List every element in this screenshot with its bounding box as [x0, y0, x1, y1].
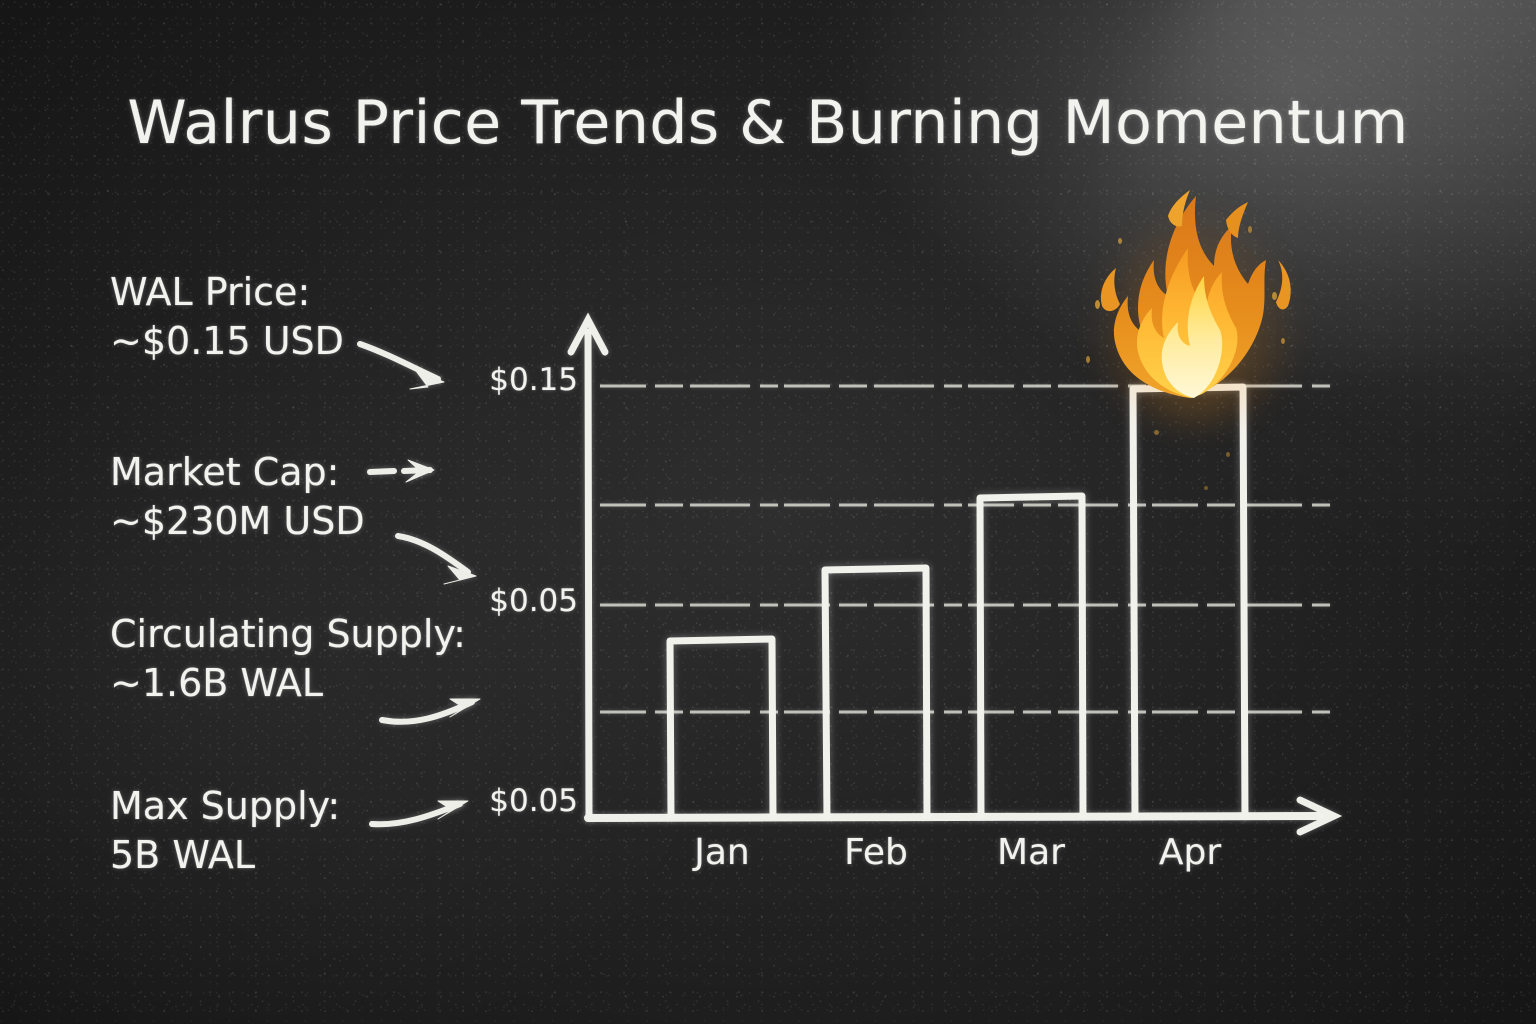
bar-apr — [1133, 387, 1245, 818]
ember — [1154, 430, 1159, 435]
arrow-to-mcap-value-icon — [396, 530, 506, 590]
stat-max-supply: Max Supply: 5B WAL — [110, 782, 340, 881]
chalkboard: Walrus Price Trends & Burning Momentum W… — [0, 0, 1536, 1024]
y-tick-label-0: $0.15 — [448, 362, 578, 398]
ember — [1248, 226, 1252, 233]
y-tick-label-1: $0.05 — [448, 583, 578, 619]
stat-circulating-supply-label: Circulating Supply: — [110, 610, 466, 659]
stat-circulating-supply-value: ~1.6B WAL — [110, 659, 466, 708]
ember — [1204, 486, 1208, 490]
stat-wal-price-label: WAL Price: — [110, 268, 344, 317]
bar-jan — [670, 639, 773, 818]
x-tick-label-jan: Jan — [642, 832, 802, 873]
bar-feb — [825, 568, 927, 818]
ember — [1118, 238, 1122, 244]
stat-market-cap: Market Cap: ~$230M USD — [110, 448, 365, 547]
x-axis — [588, 800, 1334, 832]
stat-wal-price-value: ~$0.15 USD — [110, 317, 344, 366]
ember — [1272, 292, 1277, 300]
stat-circulating-supply: Circulating Supply: ~1.6B WAL — [110, 610, 466, 709]
x-tick-label-apr: Apr — [1110, 832, 1270, 873]
stat-max-supply-label: Max Supply: — [110, 782, 340, 831]
stat-market-cap-value: ~$230M USD — [110, 497, 365, 546]
page-title: Walrus Price Trends & Burning Momentum — [0, 88, 1536, 158]
burning-flame-icon — [1072, 186, 1312, 398]
x-tick-label-mar: Mar — [951, 832, 1111, 873]
arrow-market-cap-icon — [368, 452, 478, 492]
y-tick-label-2: $0.05 — [448, 783, 578, 819]
gridlines — [600, 386, 1332, 712]
stat-wal-price: WAL Price: ~$0.15 USD — [110, 268, 344, 367]
ember — [1226, 452, 1230, 457]
stat-max-supply-value: 5B WAL — [110, 831, 340, 880]
flame-glow — [1090, 205, 1300, 425]
bars — [670, 387, 1245, 818]
x-tick-label-feb: Feb — [796, 832, 956, 873]
ember — [1281, 338, 1285, 344]
ember — [1086, 356, 1090, 363]
bar-mar — [980, 496, 1083, 818]
stat-market-cap-label: Market Cap: — [110, 448, 365, 497]
ember — [1095, 300, 1100, 309]
